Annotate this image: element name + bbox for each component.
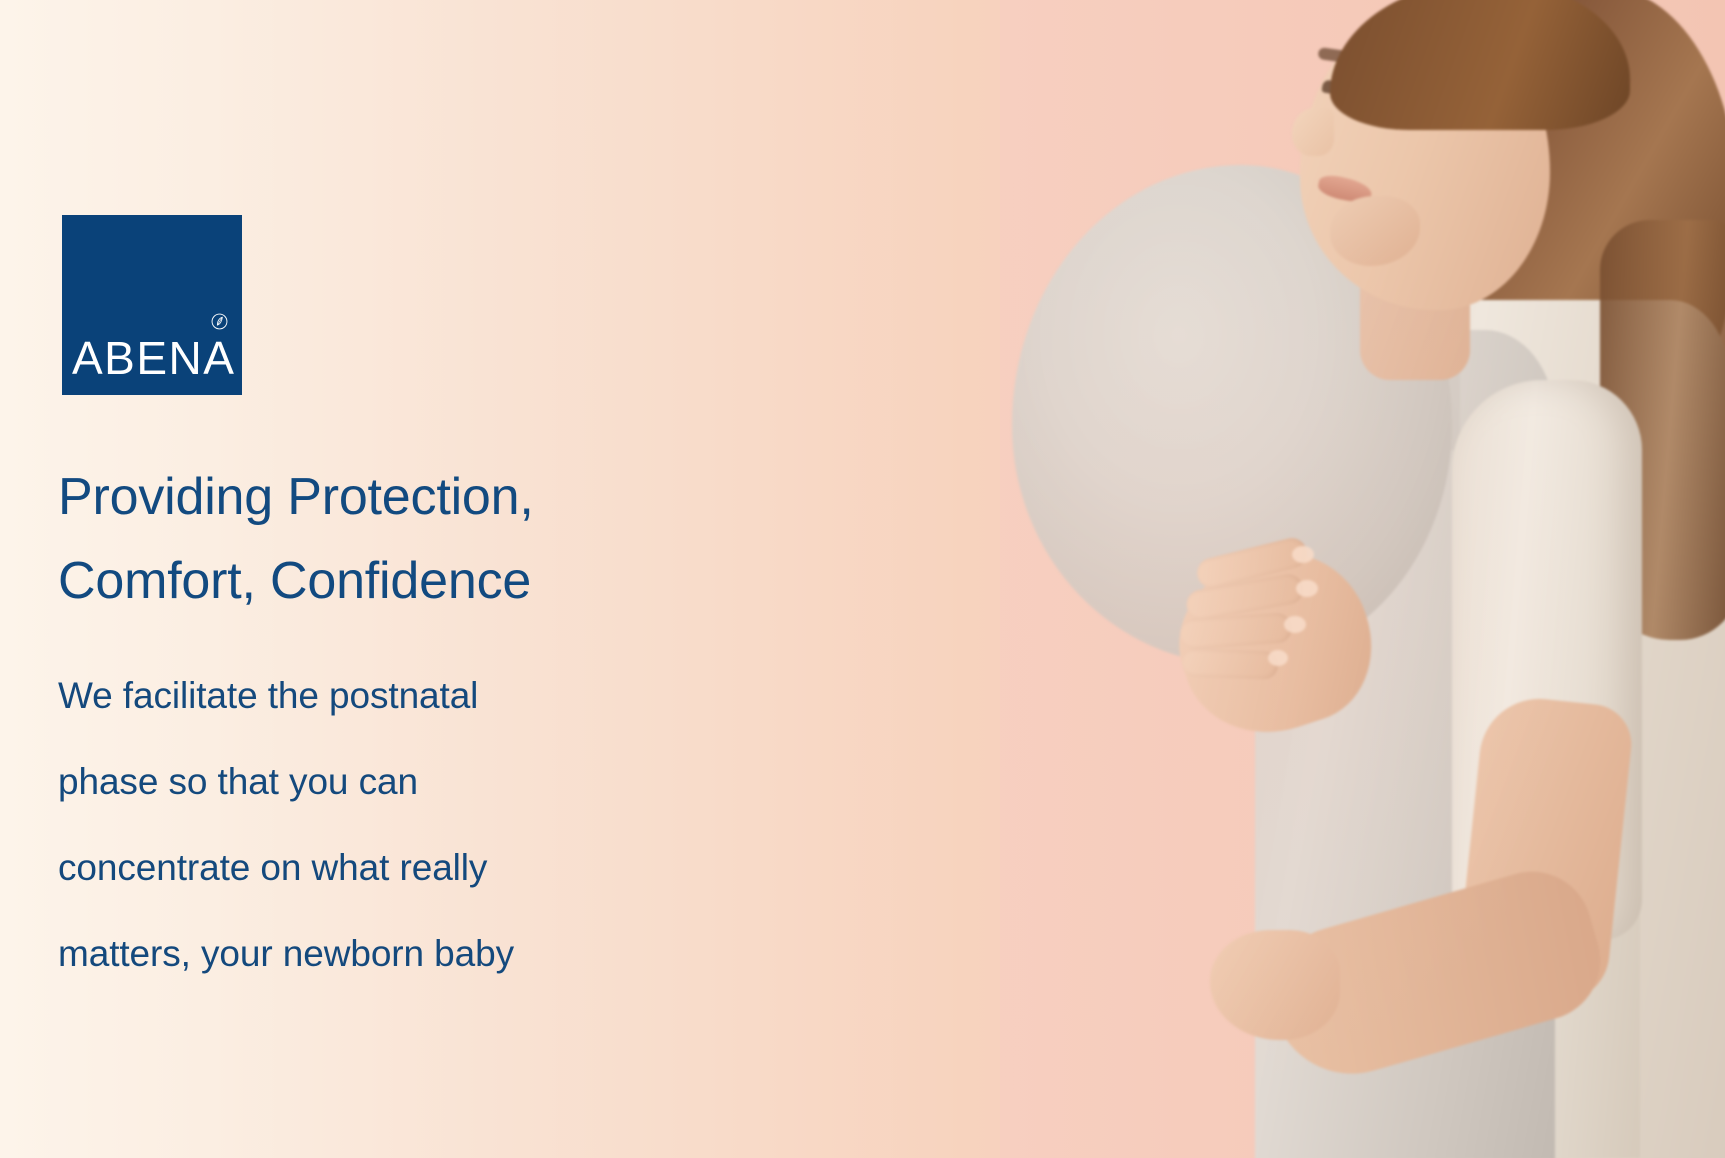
abena-logo[interactable]: ABENA xyxy=(62,215,242,395)
fingernail-4 xyxy=(1268,650,1288,666)
hand-lower xyxy=(1210,930,1340,1040)
nose xyxy=(1292,108,1334,156)
headline: Providing Protection, Comfort, Confidenc… xyxy=(58,455,698,623)
fingernail-1 xyxy=(1292,546,1314,563)
finger-4 xyxy=(1182,648,1279,679)
subcopy-line-2: phase so that you can xyxy=(58,739,698,825)
subcopy-line-1: We facilitate the postnatal xyxy=(58,653,698,739)
logo-wordmark-wrap: ABENA xyxy=(62,335,242,395)
headline-line-2: Comfort, Confidence xyxy=(58,539,698,623)
subcopy: We facilitate the postnatal phase so tha… xyxy=(58,653,698,997)
hair-top xyxy=(1330,0,1630,130)
hero-photo-pregnant-woman xyxy=(1000,0,1725,1158)
copy-block: Providing Protection, Comfort, Confidenc… xyxy=(58,455,698,997)
abena-hero-banner: ABENA Providing Protection, Comfort, Con… xyxy=(0,0,1725,1158)
registered-leaf-icon xyxy=(211,313,228,330)
logo-wordmark: ABENA xyxy=(72,335,242,381)
subcopy-line-4: matters, your newborn baby xyxy=(58,911,698,997)
photo-figure-layer xyxy=(1000,0,1725,1158)
headline-line-1: Providing Protection, xyxy=(58,455,698,539)
subcopy-line-3: concentrate on what really xyxy=(58,825,698,911)
fingernail-3 xyxy=(1284,616,1306,633)
fingernail-2 xyxy=(1296,580,1318,597)
